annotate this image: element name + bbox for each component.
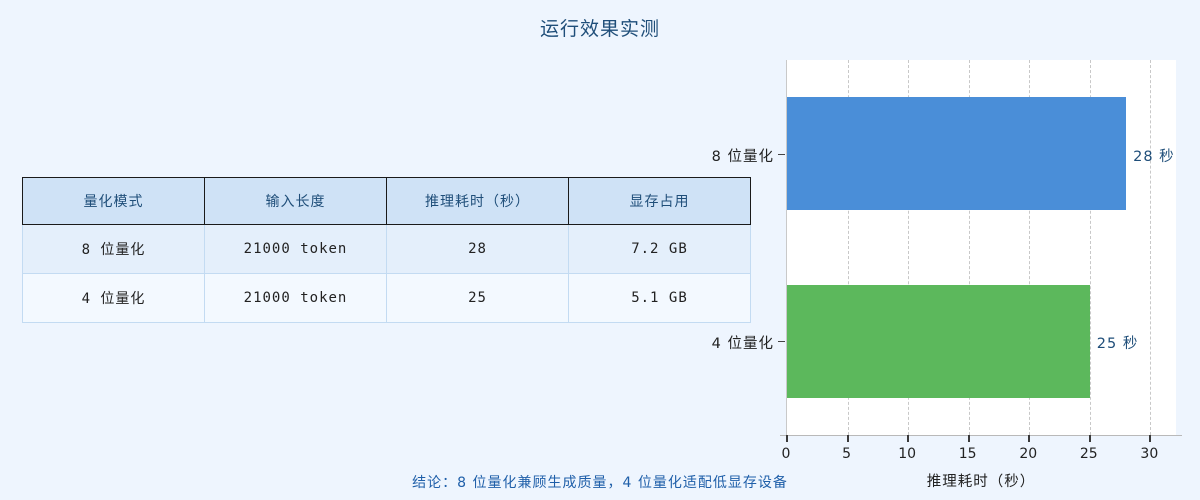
ytick-dash [778,341,785,342]
bar-value-label-4bit: 25 秒 [1097,332,1139,353]
table-cell: 25 [387,274,569,323]
xtick-label: 25 [1080,446,1098,462]
conclusion-note: 结论：8 位量化兼顾生成质量，4 位量化适配低显存设备 [0,472,1200,492]
page-title: 运行效果实测 [0,14,1200,41]
table-row: 8 位量化 21000 token 28 7.2 GB [23,225,751,274]
table-cell: 21000 token [205,225,387,274]
table-header-cell: 量化模式 [23,178,205,225]
xtick-mark [847,435,849,442]
table-cell: 21000 token [205,274,387,323]
xtick-mark [907,435,909,442]
xtick-label: 30 [1140,446,1158,462]
xtick-mark [968,435,970,442]
table-row: 4 位量化 21000 token 25 5.1 GB [23,274,751,323]
ytick-dash [778,154,785,155]
ytick-label-4bit: 4 位量化 [684,332,774,353]
bar-value-label-8bit: 28 秒 [1133,145,1175,166]
plot-area [786,60,1176,435]
table-header-cell: 推理耗时（秒） [387,178,569,225]
table-cell: 8 位量化 [23,225,205,274]
gridline [1150,60,1151,435]
xtick-label: 20 [1019,446,1037,462]
xtick-label: 5 [842,446,851,462]
ytick-label-8bit: 8 位量化 [684,145,774,166]
xtick-mark [1149,435,1151,442]
xtick-label: 15 [959,446,977,462]
bar-8bit[interactable] [787,97,1126,210]
xtick-mark [1028,435,1030,442]
xtick-label: 10 [898,446,916,462]
xtick-mark [786,435,788,442]
table-cell: 4 位量化 [23,274,205,323]
table-cell: 28 [387,225,569,274]
table-header-cell: 输入长度 [205,178,387,225]
x-axis-line [780,435,1182,436]
metrics-table: 量化模式 输入长度 推理耗时（秒） 显存占用 8 位量化 21000 token… [22,177,751,323]
inference-time-bar-chart: 8 位量化 4 位量化 28 秒 25 秒 051015202530 推理耗时（… [660,50,1200,500]
xtick-mark [1089,435,1091,442]
bar-4bit[interactable] [787,285,1090,398]
table-header-row: 量化模式 输入长度 推理耗时（秒） 显存占用 [23,178,751,225]
xtick-label: 0 [782,446,791,462]
